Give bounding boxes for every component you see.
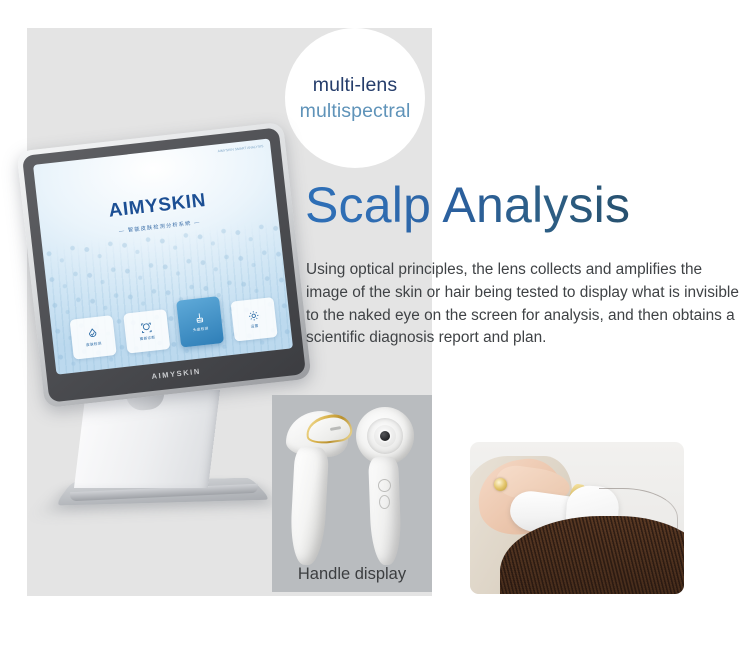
page-title: Scalp Analysis (305, 176, 630, 235)
handle-power-button (378, 479, 391, 492)
app-card-label: 头皮检测 (193, 326, 209, 333)
app-card-label: 设置 (251, 324, 259, 330)
photo-finger-ring (494, 478, 507, 491)
monitor-screen: AIMYSKIN SMART ANALYSIS AIMYSKIN — 智能皮肤检… (33, 138, 293, 374)
handle-front-grip (368, 457, 402, 566)
handle-mode-button (379, 495, 390, 509)
monitor-bezel: AIMYSKIN SMART ANALYSIS AIMYSKIN — 智能皮肤检… (22, 127, 306, 402)
app-card-label: 面部诊断 (140, 336, 156, 343)
scalp-scanning-photo (470, 442, 684, 594)
badge-line-2: multispectral (300, 98, 411, 124)
monitor-brand-label: AIMYSKIN (151, 366, 201, 380)
app-card-scalp-test[interactable]: 头皮检测 (176, 296, 224, 347)
app-card-skin-test[interactable]: 皮肤检测 (70, 315, 117, 360)
app-card-face-diagnosis[interactable]: 面部诊断 (123, 309, 170, 354)
handle-display-caption: Handle display (272, 565, 432, 584)
app-card-settings[interactable]: 设置 (230, 297, 277, 342)
badge-line-1: multi-lens (313, 72, 397, 98)
face-scan-icon (139, 321, 153, 335)
app-card-label: 皮肤检测 (86, 342, 102, 349)
scalp-probe-icon (192, 312, 206, 326)
screen-corner-note: AIMYSKIN SMART ANALYSIS (217, 144, 263, 154)
photo-loose-strand (599, 488, 678, 531)
gear-icon (246, 309, 260, 323)
handle-side-grip (289, 446, 329, 566)
monitor-body: AIMYSKIN SMART ANALYSIS AIMYSKIN — 智能皮肤检… (16, 122, 311, 408)
description-paragraph: Using optical principles, the lens colle… (306, 259, 742, 350)
handle-display-panel: Handle display (272, 395, 432, 592)
droplet-check-icon (86, 327, 100, 341)
camera-lens-icon (380, 431, 390, 441)
